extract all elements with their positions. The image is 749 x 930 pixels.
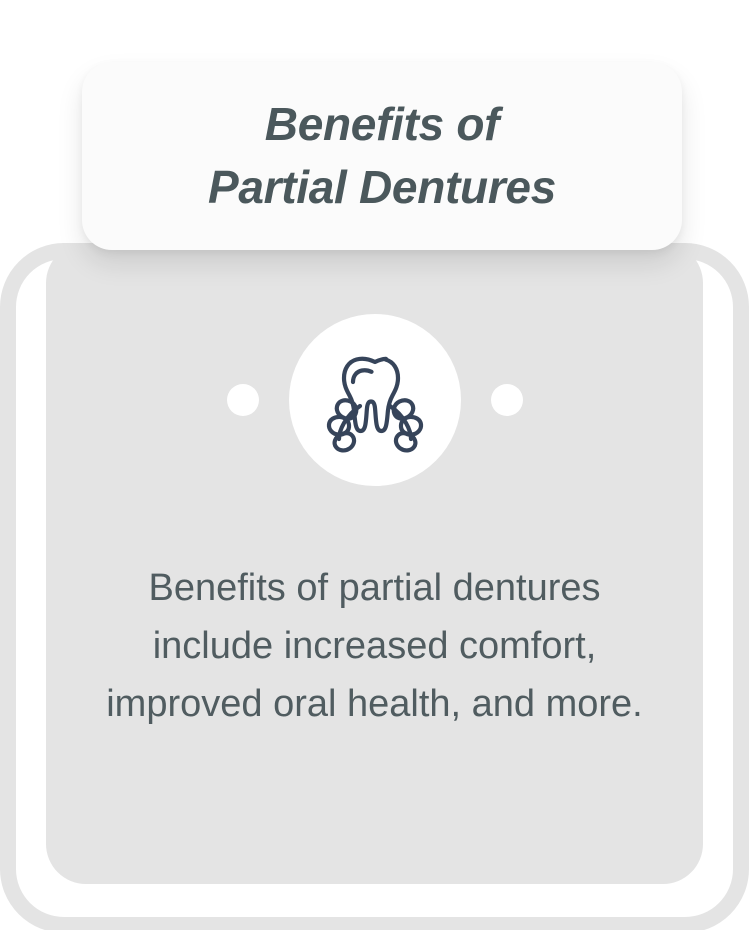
tooth-laurel-wreath-icon [315,340,435,460]
decorative-dot-right-icon [491,384,523,416]
page-title: Benefits of Partial Dentures [208,93,556,220]
benefits-description-wrap: Benefits of partial dentures include inc… [66,560,683,733]
decorative-dot-left-icon [227,384,259,416]
benefits-card-stage: Benefits of Partial Dentures [0,0,749,930]
benefits-header-card: Benefits of Partial Dentures [82,62,682,250]
icon-circle-badge [289,314,461,486]
icon-row [46,300,703,500]
benefits-description: Benefits of partial dentures include inc… [95,560,655,733]
